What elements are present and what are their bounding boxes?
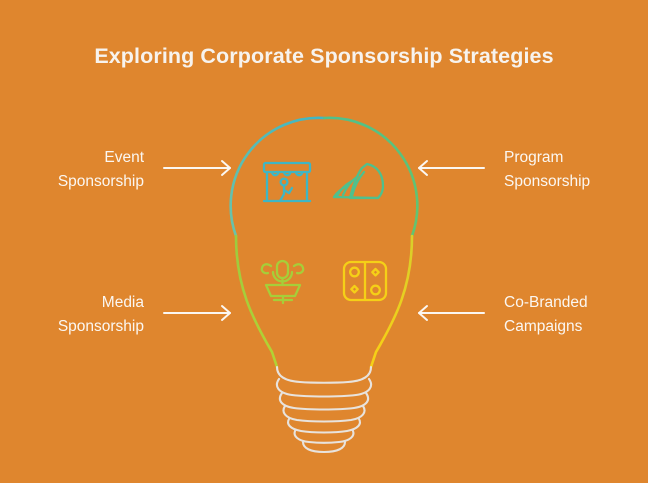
- label-program-line1: Program: [504, 146, 590, 170]
- label-media-line2: Sponsorship: [58, 315, 144, 339]
- bulb-outline-bottom-right: [371, 236, 412, 367]
- label-program-sponsorship: Program Sponsorship: [504, 146, 590, 195]
- label-event-sponsorship: Event Sponsorship: [58, 146, 144, 195]
- press-podium-microphone-icon: [262, 261, 303, 303]
- label-program-line2: Sponsorship: [504, 170, 590, 194]
- label-cobranded-line1: Co-Branded: [504, 291, 588, 315]
- light-bulb-diagram: [0, 0, 648, 483]
- label-media-line1: Media: [58, 291, 144, 315]
- arrow-left-cobranded: [419, 306, 484, 320]
- domino-gamepad-icon: [344, 262, 386, 300]
- bulb-outline-top-left: [231, 118, 324, 236]
- label-cobranded-line2: Campaigns: [504, 315, 588, 339]
- open-book-pages-icon: [334, 164, 383, 198]
- arrow-left-program: [419, 161, 484, 175]
- infographic-canvas: Exploring Corporate Sponsorship Strategi…: [0, 0, 648, 483]
- bulb-outline-top-right: [324, 118, 417, 236]
- label-event-line2: Sponsorship: [58, 170, 144, 194]
- label-media-sponsorship: Media Sponsorship: [58, 291, 144, 340]
- bulb-screw-base: [277, 367, 371, 452]
- arrow-right-media: [164, 306, 230, 320]
- arrow-right-event: [164, 161, 230, 175]
- bulb-outline-bottom-left: [236, 236, 277, 367]
- label-event-line1: Event: [58, 146, 144, 170]
- label-co-branded-campaigns: Co-Branded Campaigns: [504, 291, 588, 340]
- concert-stage-icon: [264, 163, 310, 201]
